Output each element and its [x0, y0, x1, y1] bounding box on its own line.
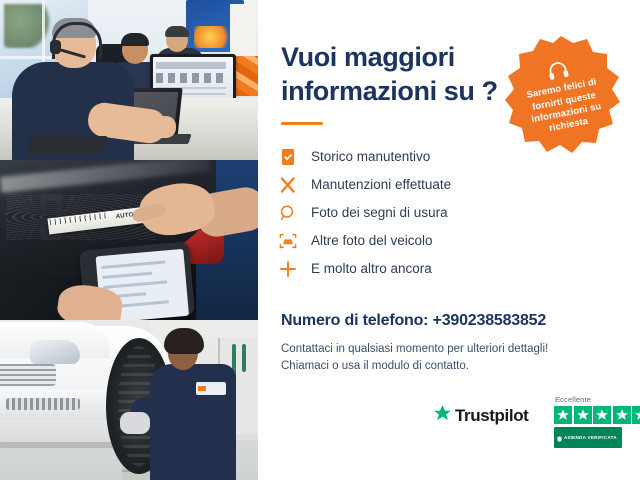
- contact-description: Contattaci in qualsiasi momento per ulte…: [281, 341, 621, 375]
- trustpilot-star-icon: [433, 404, 452, 428]
- list-item-label: E molto altro ancora: [311, 261, 432, 277]
- headset-earcup: [50, 40, 61, 54]
- star-filled-icon: [613, 406, 631, 424]
- rating-label: Eccellente: [555, 395, 640, 404]
- window-greenery: [4, 4, 56, 48]
- trustpilot-score-block: Eccellente AZIENDA VERIFICATA: [554, 395, 640, 448]
- list-item: Storico manutentivo: [278, 143, 538, 171]
- list-item-label: Manutenzioni effettuate: [311, 177, 451, 193]
- shield-check-icon: [557, 429, 562, 447]
- star-filled-icon: [554, 406, 572, 424]
- verified-company-badge: AZIENDA VERIFICATA: [554, 427, 622, 448]
- headset-icon: [545, 59, 570, 83]
- mechanic-hair: [164, 328, 204, 354]
- verified-company-text: AZIENDA VERIFICATA: [564, 435, 617, 440]
- tablet-screen-line: [102, 272, 152, 279]
- star-rating: [554, 406, 640, 424]
- star-filled-icon: [593, 406, 611, 424]
- trustpilot-wordmark: Trustpilot: [455, 406, 528, 426]
- contact-description-line-2: Chiamaci o usa il modulo di contatto.: [281, 358, 621, 375]
- page-title: Vuoi maggiori informazioni su ?: [281, 40, 521, 108]
- tablet-screen-line: [103, 280, 167, 289]
- star-half-icon: [632, 406, 640, 424]
- trustpilot-rating[interactable]: Trustpilot Eccellente AZIENDA VERIFICATA: [433, 395, 633, 441]
- list-item-label: Altre foto del veicolo: [311, 233, 433, 249]
- screen-tiles: [156, 73, 226, 83]
- contact-description-line-1: Contattaci in qualsiasi momento per ulte…: [281, 341, 621, 358]
- feature-list: Storico manutentivo Manutenzioni effettu…: [278, 143, 538, 283]
- car-scan-icon: [278, 231, 298, 251]
- list-item: E molto altro ancora: [278, 255, 538, 283]
- tablet-screen-line: [101, 260, 165, 269]
- agent-three-hair: [165, 26, 189, 37]
- trustpilot-logo: Trustpilot: [433, 404, 528, 428]
- plus-icon: [278, 259, 298, 279]
- screen-toolbar: [156, 62, 226, 69]
- list-item: Altre foto del veicolo: [278, 227, 538, 255]
- badge-text: Saremo felici di fornirti queste informa…: [514, 73, 616, 140]
- accent-divider: [281, 122, 323, 125]
- checklist-icon: [278, 147, 298, 167]
- tools-icon: [278, 175, 298, 195]
- autohero-info-banner: AUTOHERO: [0, 0, 640, 480]
- agent-two-hair: [121, 33, 149, 46]
- car-inspection-ruler-photo: AUTOHERO: [0, 160, 258, 320]
- uniform-logo-patch: [196, 382, 226, 395]
- hanging-tool: [242, 344, 246, 372]
- star-filled-icon: [574, 406, 592, 424]
- agent-one-hand: [150, 116, 176, 138]
- mechanic-glove: [120, 412, 150, 434]
- brand-text-auto: AUTO: [116, 212, 134, 220]
- car-lower-grille: [6, 398, 80, 410]
- badge-content: Saremo felici di fornirti queste informa…: [492, 24, 633, 169]
- list-item-label: Storico manutentivo: [311, 149, 430, 165]
- call-center-agents-photo: [0, 0, 258, 160]
- car-grille: [0, 364, 56, 386]
- list-item: Foto dei segni di usura: [278, 199, 538, 227]
- info-on-request-badge: Saremo felici di fornirti queste informa…: [503, 34, 623, 158]
- list-item: Manutenzioni effettuate: [278, 171, 538, 199]
- phone-number-line: Numero di telefono: +390238583852: [281, 312, 611, 330]
- photo-column: AUTOHERO: [0, 0, 258, 480]
- magnifier-icon: [278, 203, 298, 223]
- list-item-label: Foto dei segni di usura: [311, 205, 448, 221]
- desk-tablet: [26, 136, 108, 154]
- workshop-tire-check-photo: [0, 320, 258, 480]
- car-headlight: [30, 340, 80, 364]
